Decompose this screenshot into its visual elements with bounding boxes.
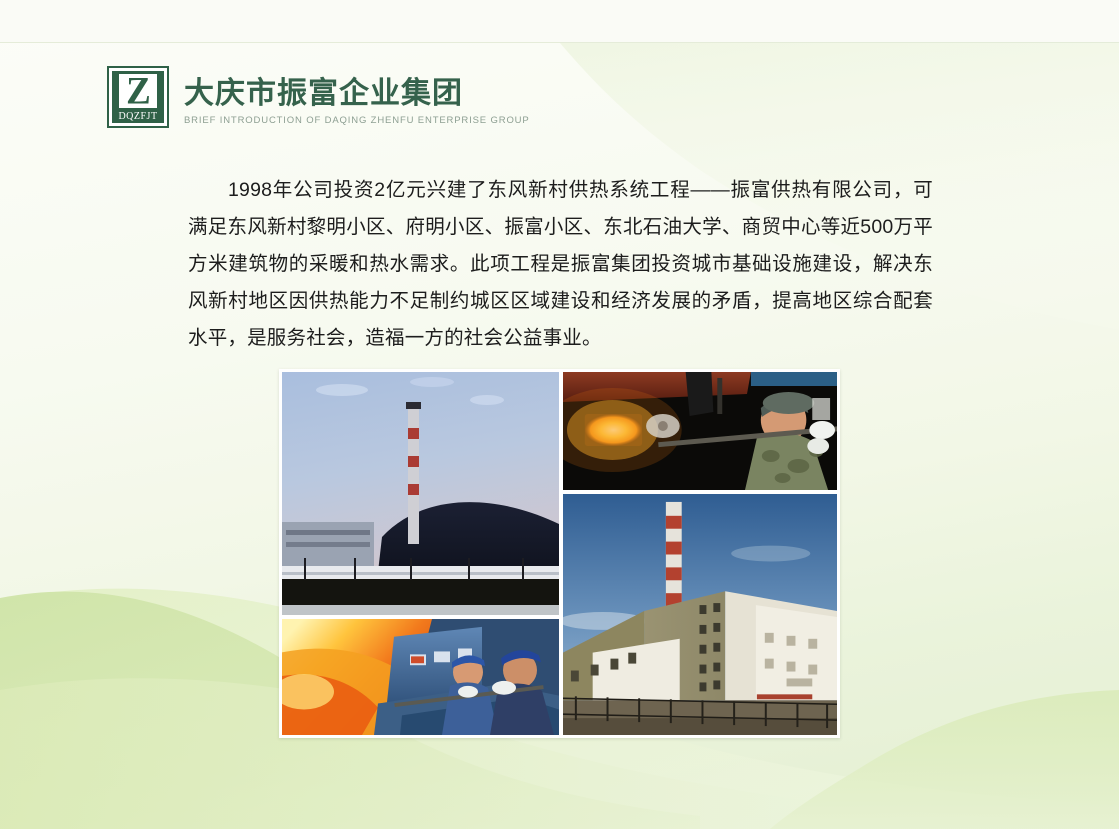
logo-letter-z: Z <box>119 74 157 108</box>
photo-boiler-house-building <box>563 494 837 735</box>
brand-header: Z DQZFJT 大庆市振富企业集团 BRIEF INTRODUCTION OF… <box>107 66 530 128</box>
brand-text-block: 大庆市振富企业集团 BRIEF INTRODUCTION OF DAQING Z… <box>184 66 530 128</box>
photo-heating-plant-exterior <box>282 372 559 615</box>
company-name-en: BRIEF INTRODUCTION OF DAQING ZHENFU ENTE… <box>184 114 530 128</box>
photo-furnace-operation <box>563 372 837 490</box>
introduction-paragraph: 1998年公司投资2亿元兴建了东风新村供热系统工程——振富供热有限公司，可满足东… <box>188 172 933 357</box>
company-logo: Z DQZFJT <box>107 66 169 128</box>
collage-left-column <box>282 372 559 735</box>
slide-root: Z DQZFJT 大庆市振富企业集团 BRIEF INTRODUCTION OF… <box>0 0 1119 829</box>
company-name-cn: 大庆市振富企业集团 <box>184 77 530 111</box>
collage-right-column <box>563 372 837 735</box>
photo-workers-control-panel <box>282 619 559 735</box>
logo-inner-panel: Z DQZFJT <box>112 71 164 123</box>
photo-collage <box>279 369 840 738</box>
